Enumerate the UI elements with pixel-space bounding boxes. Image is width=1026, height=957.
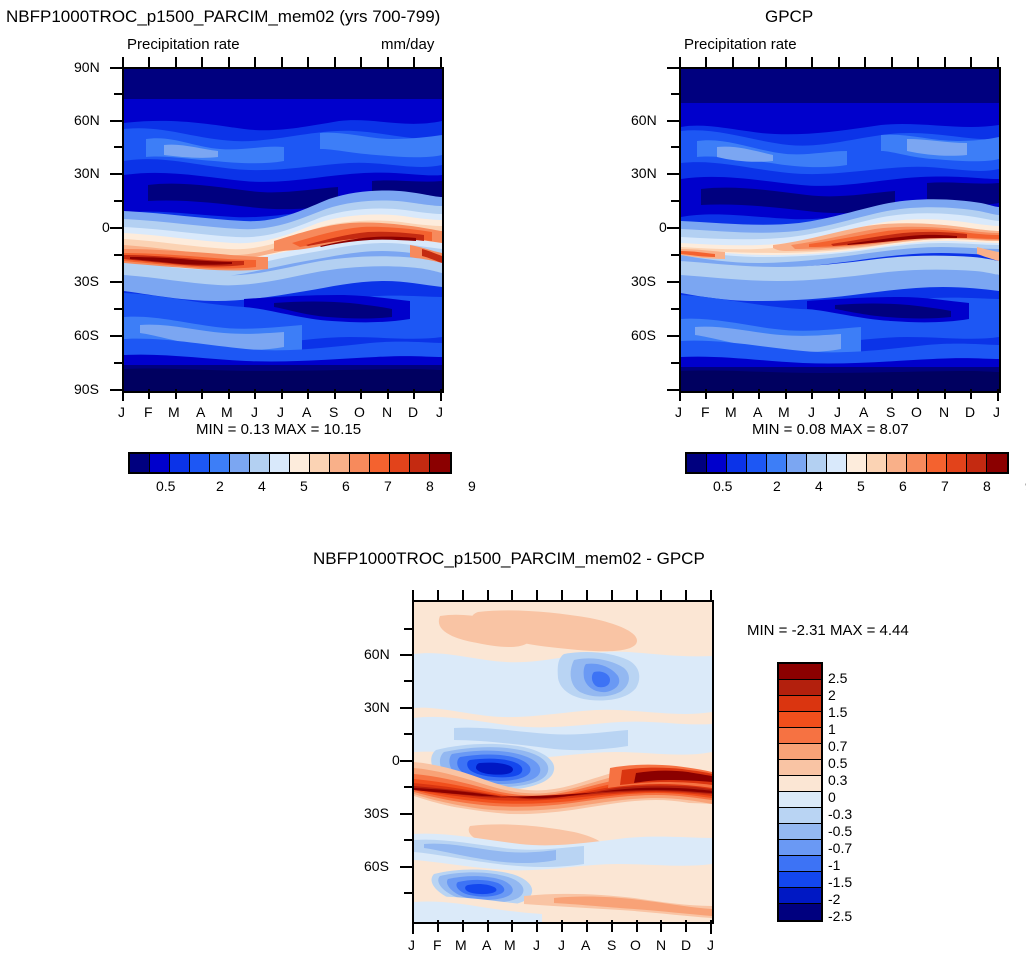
- cb-o-lbl-2: 4: [815, 478, 823, 494]
- obs-x-tick-8: S: [886, 404, 895, 420]
- obs-y-tick-0: 0: [659, 219, 667, 235]
- cb-m-lbl-7: 9: [468, 478, 476, 494]
- colorbar-cell-2: [170, 454, 190, 472]
- cbv-lbl-0: 2.5: [828, 670, 847, 686]
- colorbar-cell-2: [727, 454, 747, 472]
- diff-colorbar-cell-15: [779, 904, 821, 920]
- obs-y-tick-60s: 60S: [631, 327, 656, 343]
- diff-colorbar-cell-1: [779, 680, 821, 696]
- obs-heatmap-plot[interactable]: [679, 67, 1001, 393]
- cbv-lbl-4: 0.7: [828, 738, 847, 754]
- diff-colorbar-cell-2: [779, 696, 821, 712]
- colorbar-cell-11: [907, 454, 927, 472]
- obs-y-tick-60n: 60N: [631, 112, 657, 128]
- obs-minmax-label: MIN = 0.08 MAX = 8.07: [752, 421, 909, 438]
- colorbar-cell-7: [827, 454, 847, 472]
- cb-o-lbl-3: 5: [857, 478, 865, 494]
- obs-variable-label: Precipitation rate: [684, 36, 797, 53]
- cb-o-lbl-0: 0.5: [713, 478, 732, 494]
- model-x-tick-8: S: [329, 404, 338, 420]
- obs-x-tick-2: M: [725, 404, 737, 420]
- diff-x-tick-3: A: [482, 937, 491, 953]
- obs-x-tick-11: D: [965, 404, 975, 420]
- colorbar-cell-12: [370, 454, 390, 472]
- diff-colorbar-cell-8: [779, 792, 821, 808]
- cbv-lbl-9: -0.5: [828, 823, 852, 839]
- model-x-tick-10: N: [382, 404, 392, 420]
- diff-panel-title: NBFP1000TROC_p1500_PARCIM_mem02 - GPCP: [313, 549, 705, 569]
- model-heatmap-canvas: [124, 69, 442, 391]
- colorbar-cell-12: [927, 454, 947, 472]
- cbv-lbl-7: 0: [828, 789, 836, 805]
- model-y-tick-0: 0: [102, 219, 110, 235]
- colorbar-cell-10: [887, 454, 907, 472]
- colorbar-cell-8: [290, 454, 310, 472]
- diff-colorbar-cell-3: [779, 712, 821, 728]
- colorbar-cell-10: [330, 454, 350, 472]
- diff-colorbar-cell-6: [779, 760, 821, 776]
- colorbar-cell-15: [430, 454, 450, 472]
- colorbar-cell-6: [807, 454, 827, 472]
- cbv-lbl-6: 0.3: [828, 772, 847, 788]
- colorbar-cell-5: [230, 454, 250, 472]
- diff-colorbar-cell-12: [779, 856, 821, 872]
- obs-x-tick-10: N: [939, 404, 949, 420]
- model-variable-label: Precipitation rate: [127, 36, 240, 53]
- cb-m-lbl-5: 7: [384, 478, 392, 494]
- colorbar-cell-1: [150, 454, 170, 472]
- colorbar-cell-3: [190, 454, 210, 472]
- cb-m-lbl-2: 4: [258, 478, 266, 494]
- cb-m-lbl-6: 8: [426, 478, 434, 494]
- model-y-tick-60n: 60N: [74, 112, 100, 128]
- cb-m-lbl-3: 5: [300, 478, 308, 494]
- diff-y-tick-60s: 60S: [364, 858, 389, 874]
- colorbar-cell-13: [947, 454, 967, 472]
- colorbar-cell-8: [847, 454, 867, 472]
- colorbar-cell-7: [270, 454, 290, 472]
- colorbar-cell-1: [707, 454, 727, 472]
- obs-x-tick-4: M: [778, 404, 790, 420]
- diff-colorbar-cell-0: [779, 664, 821, 680]
- obs-x-tick-6: J: [834, 404, 841, 420]
- colorbar-cell-15: [987, 454, 1007, 472]
- obs-x-tick-0: J: [675, 404, 682, 420]
- diff-x-tick-9: O: [630, 937, 641, 953]
- cbv-lbl-12: -1.5: [828, 874, 852, 890]
- model-x-tick-0: J: [118, 404, 125, 420]
- diff-x-tick-0: J: [408, 937, 415, 953]
- cb-m-lbl-0: 0.5: [156, 478, 175, 494]
- diff-y-tick-60n: 60N: [364, 646, 390, 662]
- colorbar-cell-0: [687, 454, 707, 472]
- model-y-tick-90n: 90N: [74, 59, 100, 75]
- obs-x-tick-12: J: [993, 404, 1000, 420]
- model-x-tick-1: F: [144, 404, 153, 420]
- diff-colorbar-cell-13: [779, 872, 821, 888]
- obs-y-tick-30s: 30S: [631, 273, 656, 289]
- cbv-lbl-3: 1: [828, 721, 836, 737]
- colorbar-cell-14: [967, 454, 987, 472]
- cbv-lbl-1: 2: [828, 687, 836, 703]
- cb-o-lbl-1: 2: [773, 478, 781, 494]
- model-y-tick-90s: 90S: [74, 381, 99, 397]
- model-x-tick-6: J: [277, 404, 284, 420]
- diff-x-tick-5: J: [533, 937, 540, 953]
- cbv-lbl-8: -0.3: [828, 806, 852, 822]
- cb-o-lbl-6: 8: [983, 478, 991, 494]
- diff-x-tick-11: D: [681, 937, 691, 953]
- diff-colorbar-cell-7: [779, 776, 821, 792]
- colorbar-cell-11: [350, 454, 370, 472]
- cb-o-lbl-4: 6: [899, 478, 907, 494]
- diff-x-tick-8: S: [607, 937, 616, 953]
- diff-colorbar-cell-11: [779, 840, 821, 856]
- colorbar-cell-9: [867, 454, 887, 472]
- diff-x-tick-10: N: [656, 937, 666, 953]
- diff-x-tick-6: J: [558, 937, 565, 953]
- obs-y-tick-30n: 30N: [631, 165, 657, 181]
- diff-y-tick-0: 0: [392, 752, 400, 768]
- diff-y-tick-30n: 30N: [364, 699, 390, 715]
- colorbar-cell-4: [210, 454, 230, 472]
- obs-x-tick-3: A: [753, 404, 762, 420]
- diff-colorbar-cell-10: [779, 824, 821, 840]
- diff-x-tick-1: F: [433, 937, 442, 953]
- obs-heatmap-canvas: [681, 69, 999, 391]
- cbv-lbl-14: -2.5: [828, 908, 852, 924]
- diff-colorbar-cell-9: [779, 808, 821, 824]
- diff-heatmap-canvas: [414, 602, 712, 922]
- colorbar-cell-9: [310, 454, 330, 472]
- obs-x-tick-7: A: [859, 404, 868, 420]
- model-x-tick-7: A: [302, 404, 311, 420]
- cb-m-lbl-4: 6: [342, 478, 350, 494]
- cb-o-lbl-5: 7: [941, 478, 949, 494]
- model-x-tick-3: A: [196, 404, 205, 420]
- colorbar-cell-6: [250, 454, 270, 472]
- colorbar-cell-5: [787, 454, 807, 472]
- obs-panel-title: GPCP: [765, 7, 813, 27]
- model-x-tick-11: D: [408, 404, 418, 420]
- colorbar-cell-13: [390, 454, 410, 472]
- precip-colorbar-model[interactable]: [128, 452, 452, 474]
- cbv-lbl-11: -1: [828, 857, 840, 873]
- diff-x-tick-7: A: [581, 937, 590, 953]
- precip-colorbar-obs[interactable]: [685, 452, 1009, 474]
- diff-colorbar[interactable]: [777, 662, 823, 922]
- diff-x-tick-12: J: [707, 937, 714, 953]
- colorbar-cell-3: [747, 454, 767, 472]
- model-x-tick-4: M: [221, 404, 233, 420]
- cbv-lbl-2: 1.5: [828, 704, 847, 720]
- colorbar-cell-14: [410, 454, 430, 472]
- cbv-lbl-10: -0.7: [828, 840, 852, 856]
- diff-colorbar-cell-5: [779, 744, 821, 760]
- cb-m-lbl-1: 2: [216, 478, 224, 494]
- model-heatmap-plot[interactable]: [122, 67, 444, 393]
- model-y-tick-60s: 60S: [74, 327, 99, 343]
- colorbar-cell-0: [130, 454, 150, 472]
- model-x-tick-2: M: [168, 404, 180, 420]
- diff-minmax-label: MIN = -2.31 MAX = 4.44: [747, 622, 909, 639]
- model-minmax-label: MIN = 0.13 MAX = 10.15: [196, 421, 361, 438]
- model-panel-title: NBFP1000TROC_p1500_PARCIM_mem02 (yrs 700…: [6, 7, 440, 27]
- diff-colorbar-cell-4: [779, 728, 821, 744]
- cbv-lbl-13: -2: [828, 891, 840, 907]
- model-x-tick-12: J: [436, 404, 443, 420]
- model-x-tick-5: J: [251, 404, 258, 420]
- colorbar-cell-4: [767, 454, 787, 472]
- model-x-tick-9: O: [354, 404, 365, 420]
- obs-x-tick-5: J: [808, 404, 815, 420]
- model-y-tick-30n: 30N: [74, 165, 100, 181]
- model-units-label: mm/day: [381, 36, 434, 53]
- cbv-lbl-5: 0.5: [828, 755, 847, 771]
- model-y-tick-30s: 30S: [74, 273, 99, 289]
- obs-x-tick-1: F: [701, 404, 710, 420]
- diff-colorbar-cell-14: [779, 888, 821, 904]
- diff-x-tick-2: M: [455, 937, 467, 953]
- obs-x-tick-9: O: [911, 404, 922, 420]
- diff-colorbar-labels: 2.5 2 1.5 1 0.7 0.5 0.3 0 -0.3 -0.5 -0.7…: [828, 662, 888, 934]
- diff-y-tick-30s: 30S: [364, 805, 389, 821]
- diff-x-tick-4: M: [504, 937, 516, 953]
- diff-heatmap-plot[interactable]: [412, 600, 714, 924]
